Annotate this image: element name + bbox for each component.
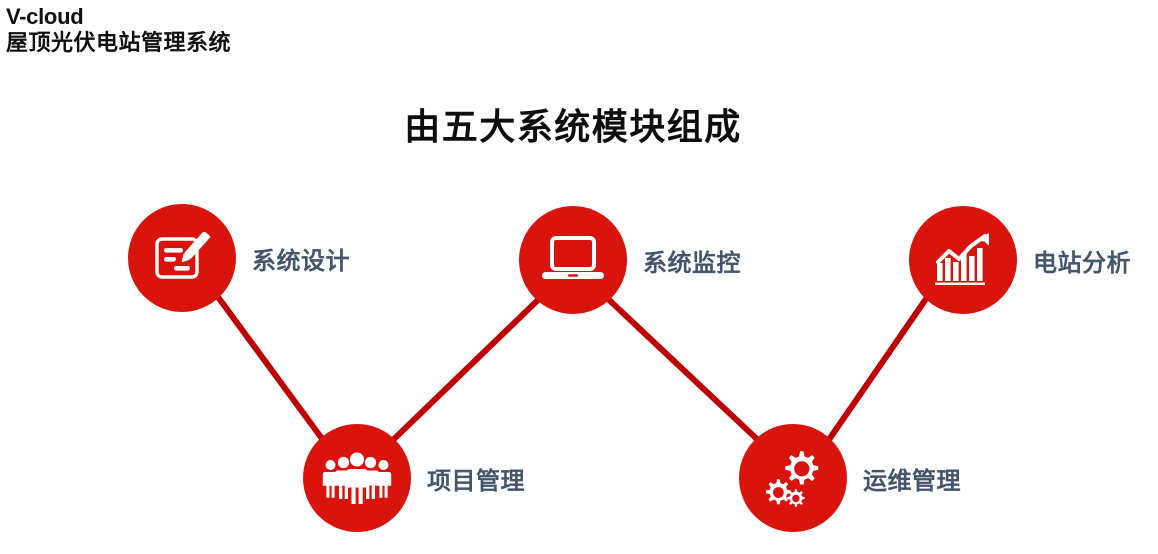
node-label-system-design: 系统设计 <box>252 241 350 276</box>
connector-operations-to-analysis <box>828 296 928 441</box>
laptop-icon <box>540 235 606 285</box>
node-system-design[interactable]: 系统设计 <box>128 204 350 312</box>
node-circle-system-monitoring[interactable] <box>519 206 627 314</box>
node-circle-project-management[interactable] <box>303 424 411 532</box>
node-label-operations-management: 运维管理 <box>863 461 961 496</box>
bar-chart-arrow-icon <box>933 233 993 287</box>
gears-icon <box>762 449 824 507</box>
people-group-icon <box>322 450 392 506</box>
module-diagram: 系统设计 <box>0 0 1158 554</box>
node-circle-plant-analysis[interactable] <box>909 206 1017 314</box>
node-operations-management[interactable]: 运维管理 <box>739 424 961 532</box>
node-label-project-management: 项目管理 <box>427 461 525 496</box>
connector-project-to-monitoring <box>393 298 540 440</box>
connector-monitoring-to-operations <box>607 298 759 441</box>
node-system-monitoring[interactable]: 系统监控 <box>519 206 741 314</box>
node-circle-system-design[interactable] <box>128 204 236 312</box>
node-label-system-monitoring: 系统监控 <box>643 243 741 278</box>
node-plant-analysis[interactable]: 电站分析 <box>909 206 1131 314</box>
node-circle-operations-management[interactable] <box>739 424 847 532</box>
document-pen-icon <box>153 232 211 284</box>
node-project-management[interactable]: 项目管理 <box>303 424 525 532</box>
connector-design-to-project <box>218 297 323 440</box>
slide-canvas: V-cloud 屋顶光伏电站管理系统 由五大系统模块组成 <box>0 0 1158 554</box>
node-label-plant-analysis: 电站分析 <box>1033 243 1131 278</box>
